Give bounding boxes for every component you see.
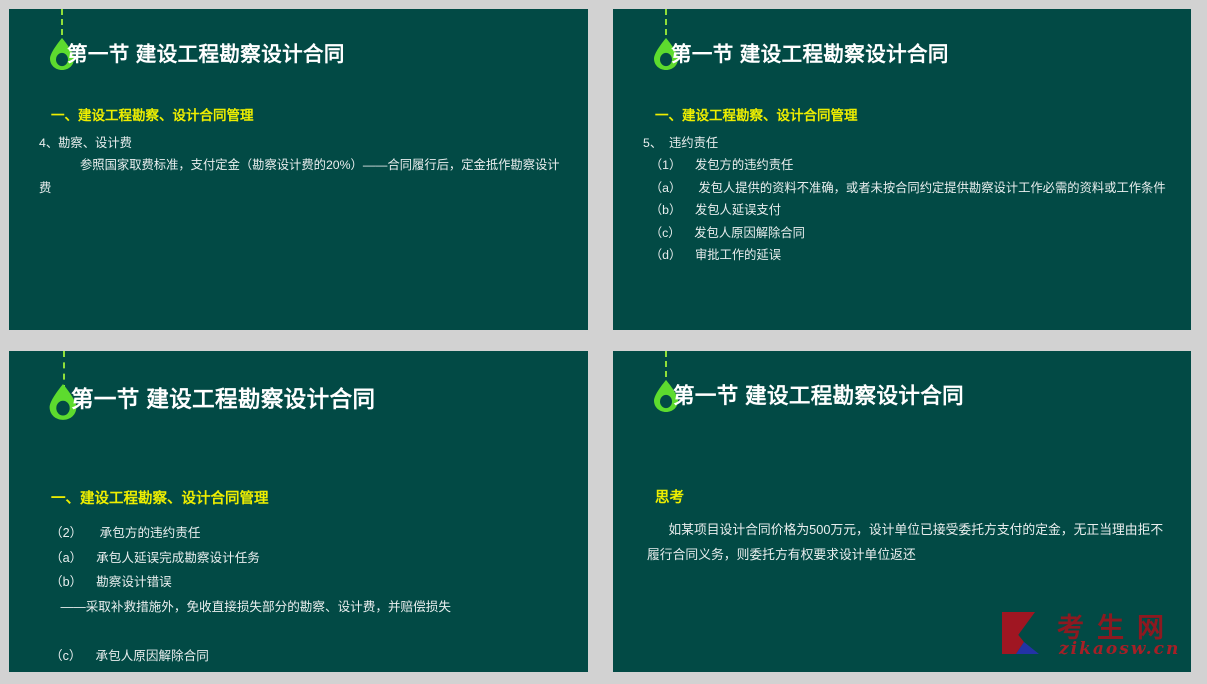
slide-2[interactable]: 第一节 建设工程勘察设计合同 一、建设工程勘察、设计合同管理 5、 违约责任 （… (613, 9, 1191, 330)
slide-body: 5、 违约责任 （1） 发包方的违约责任 （a） 发包人提供的资料不准确，或者未… (643, 132, 1169, 266)
slide-4[interactable]: 第一节 建设工程勘察设计合同 思考 如某项目设计合同价格为500万元，设计单位已… (613, 351, 1191, 672)
slide-body: （2） 承包方的违约责任 （a） 承包人延误完成勘察设计任务 （b） 勘察设计错… (43, 521, 566, 672)
slide-grid: 第一节 建设工程勘察设计合同 一、建设工程勘察、设计合同管理 4、勘察、设计费 … (0, 0, 1207, 684)
slide-cell-4: 第一节 建设工程勘察设计合同 思考 如某项目设计合同价格为500万元，设计单位已… (604, 342, 1207, 684)
slide-title: 第一节 建设工程勘察设计合同 (71, 382, 375, 414)
slide-subtitle: 一、建设工程勘察、设计合同管理 (51, 104, 254, 124)
slide-cell-3: 第一节 建设工程勘察设计合同 一、建设工程勘察、设计合同管理 （2） 承包方的违… (0, 342, 604, 684)
slide-body: 4、勘察、设计费 参照国家取费标准，支付定金（勘察设计费的20%）——合同履行后… (39, 132, 566, 199)
watermark: 考生网 zikaosw.cn (999, 606, 1177, 660)
slide-title: 第一节 建设工程勘察设计合同 (671, 37, 949, 67)
slide-title: 第一节 建设工程勘察设计合同 (673, 379, 964, 410)
slide-subtitle: 一、建设工程勘察、设计合同管理 (51, 487, 269, 508)
slide-subtitle: 一、建设工程勘察、设计合同管理 (655, 104, 858, 124)
slide-body: 如某项目设计合同价格为500万元，设计单位已接受委托方支付的定金，无正当理由拒不… (647, 518, 1169, 568)
slide-3[interactable]: 第一节 建设工程勘察设计合同 一、建设工程勘察、设计合同管理 （2） 承包方的违… (9, 351, 588, 672)
slide-cell-1: 第一节 建设工程勘察设计合同 一、建设工程勘察、设计合同管理 4、勘察、设计费 … (0, 0, 604, 342)
slide-cell-2: 第一节 建设工程勘察设计合同 一、建设工程勘察、设计合同管理 5、 违约责任 （… (604, 0, 1207, 342)
slide-subtitle: 思考 (655, 486, 684, 507)
slide-title: 第一节 建设工程勘察设计合同 (67, 37, 345, 67)
k-logo-icon (999, 608, 1057, 658)
slide-1[interactable]: 第一节 建设工程勘察设计合同 一、建设工程勘察、设计合同管理 4、勘察、设计费 … (9, 9, 588, 330)
watermark-url: zikaosw.cn (1059, 639, 1180, 659)
